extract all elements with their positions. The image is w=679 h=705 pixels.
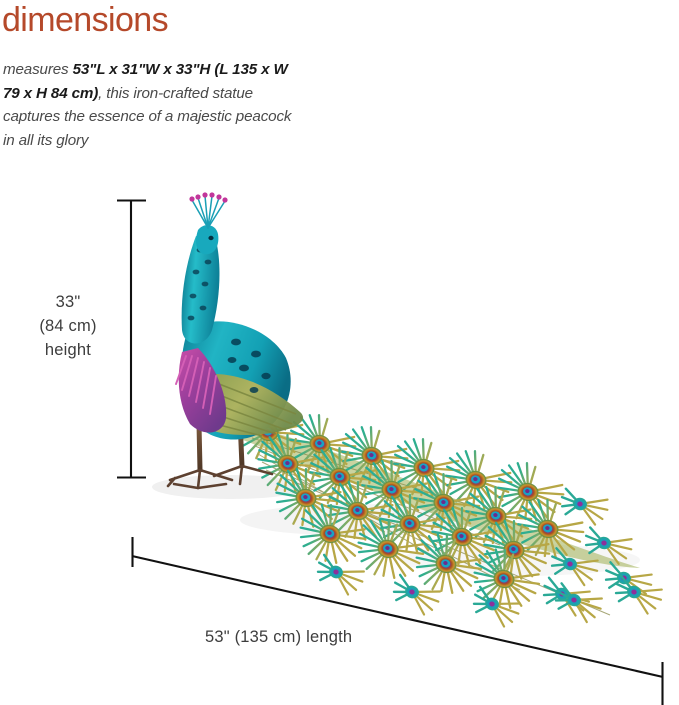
- height-dimension-rule: [117, 200, 146, 478]
- crest-tips: [189, 192, 227, 202]
- peacock-crest: [189, 192, 227, 228]
- peacock-head: [196, 225, 218, 254]
- product-dimension-diagram: [0, 0, 679, 705]
